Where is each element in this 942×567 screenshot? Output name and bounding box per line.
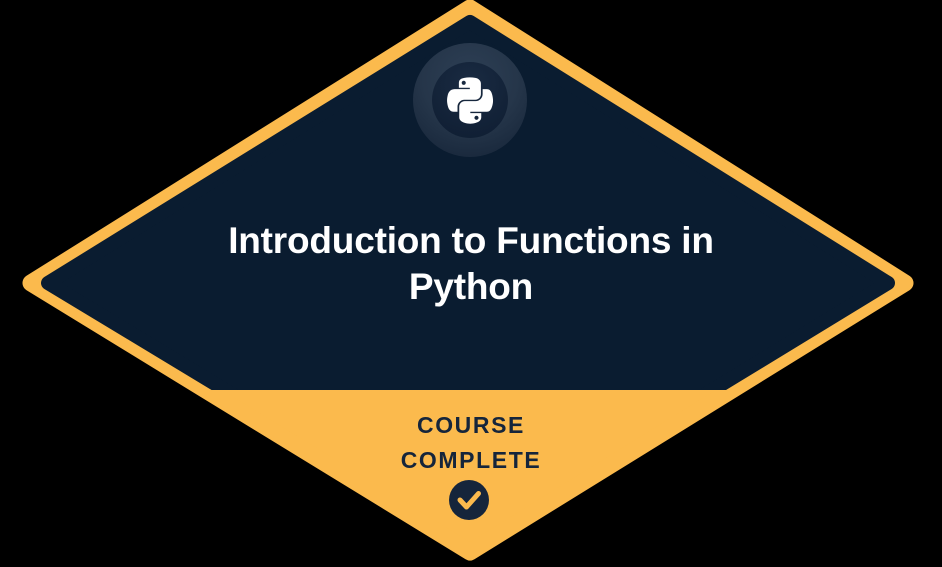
- status-label-line-2: COMPLETE: [271, 443, 671, 478]
- check-circle-background: [449, 480, 489, 520]
- status-label-line-1: COURSE: [271, 408, 671, 443]
- badge-canvas: Introduction to Functions in Python COUR…: [0, 0, 942, 567]
- logo-ring-inner: [432, 62, 508, 138]
- logo-rings-group: [413, 43, 527, 157]
- completion-status: COURSE COMPLETE: [271, 408, 671, 478]
- badge-graphic: [0, 0, 942, 567]
- check-circle-icon: [449, 480, 489, 520]
